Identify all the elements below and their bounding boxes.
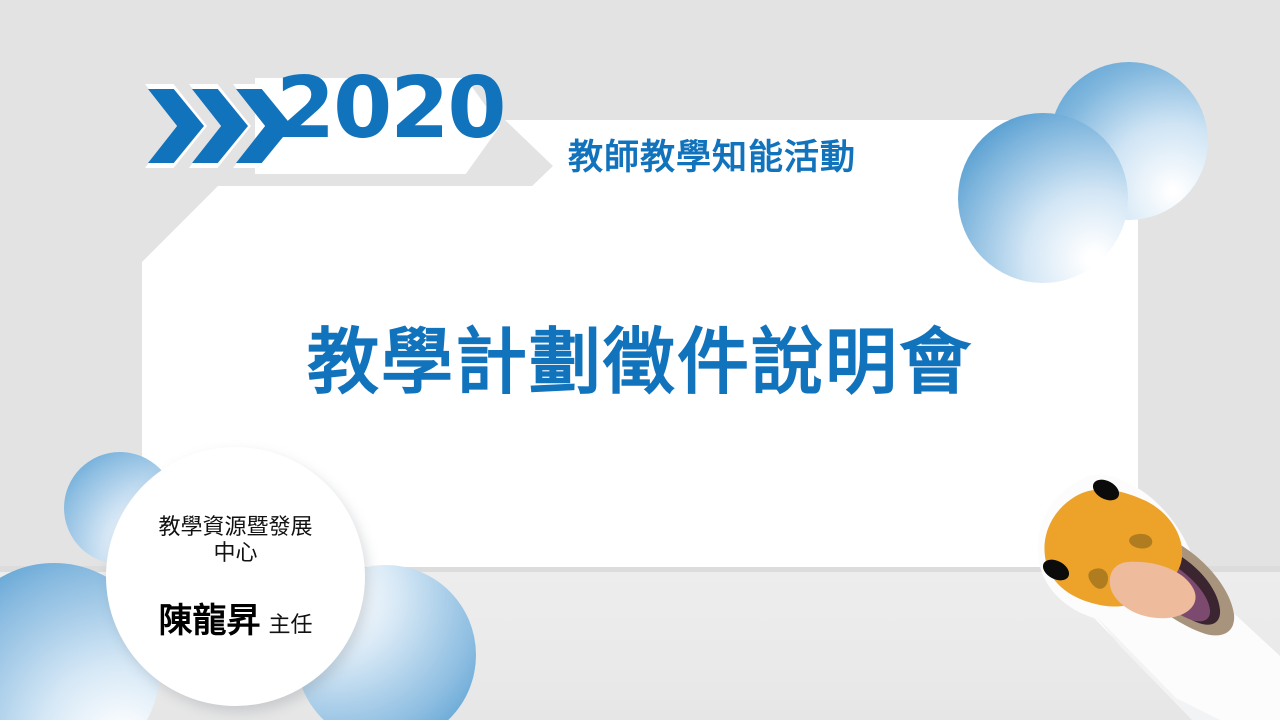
year-label: 2020 [276, 66, 505, 151]
speaker-role: 主任 [268, 607, 312, 639]
speaker-name-row: 陳龍昇 主任 [158, 593, 312, 642]
header-banner-text: 教師教學知能活動 [568, 139, 988, 178]
chevron-right-icon-1 [148, 89, 204, 163]
speaker-info-content: 教學資源暨發展 中心 陳龍昇 主任 [106, 447, 365, 706]
speaker-name: 陳龍昇 [158, 593, 260, 642]
page-title: 教學計劃徵件說明會 [142, 325, 1138, 401]
year-badge: 2020 [142, 84, 542, 168]
department-name: 教學資源暨發展 中心 [141, 515, 331, 567]
presentation-slide: 教師教學知能活動 2020 教學計劃徵件說明會 教學資源暨發展 中心 陳龍昇 主… [0, 0, 1280, 720]
department-name-line1: 教學資源暨發展 [158, 515, 312, 540]
goose-head-illustration [1024, 470, 1280, 720]
department-name-line2: 中心 [213, 541, 257, 566]
speaker-info-circle: 教學資源暨發展 中心 陳龍昇 主任 [106, 447, 365, 706]
